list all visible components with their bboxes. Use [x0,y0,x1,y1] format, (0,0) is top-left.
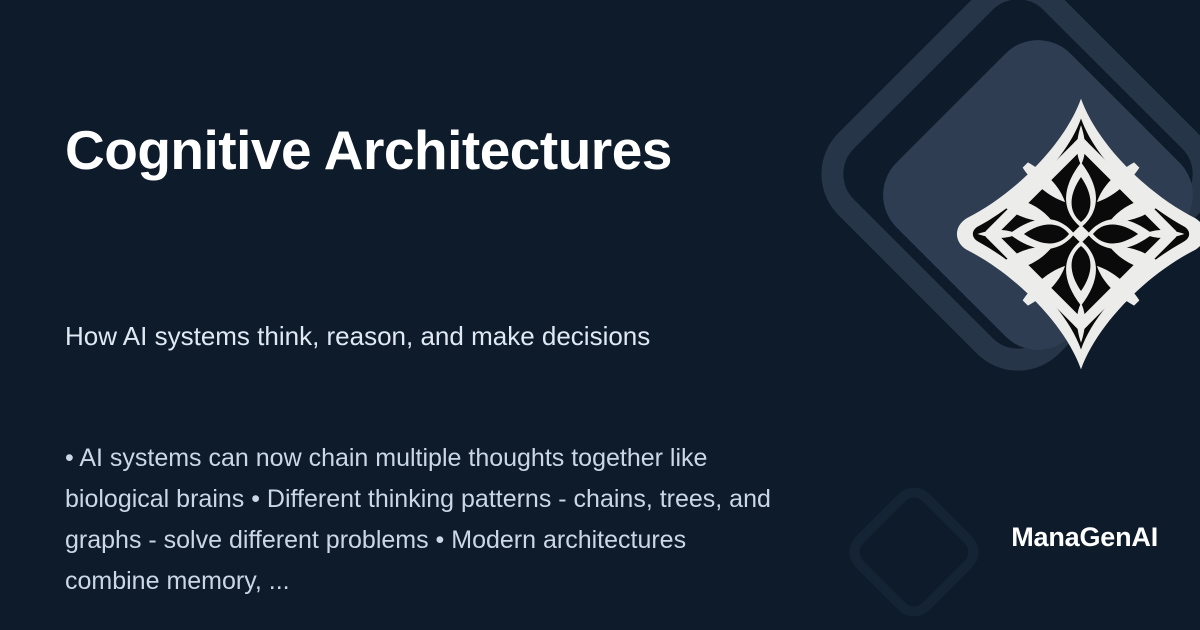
ornate-diamond-emblem-icon [948,96,1200,372]
text-column: Cognitive Architectures How AI systems t… [65,0,805,630]
page-subtitle: How AI systems think, reason, and make d… [65,320,805,354]
og-card: Cognitive Architectures How AI systems t… [0,0,1200,630]
brand-name: ManaGenAI [1011,522,1158,553]
page-title: Cognitive Architectures [65,120,805,181]
summary-text: • AI systems can now chain multiple thou… [65,438,771,602]
decorative-diamond-outline-small [840,478,987,625]
brand-logo [948,96,1200,372]
